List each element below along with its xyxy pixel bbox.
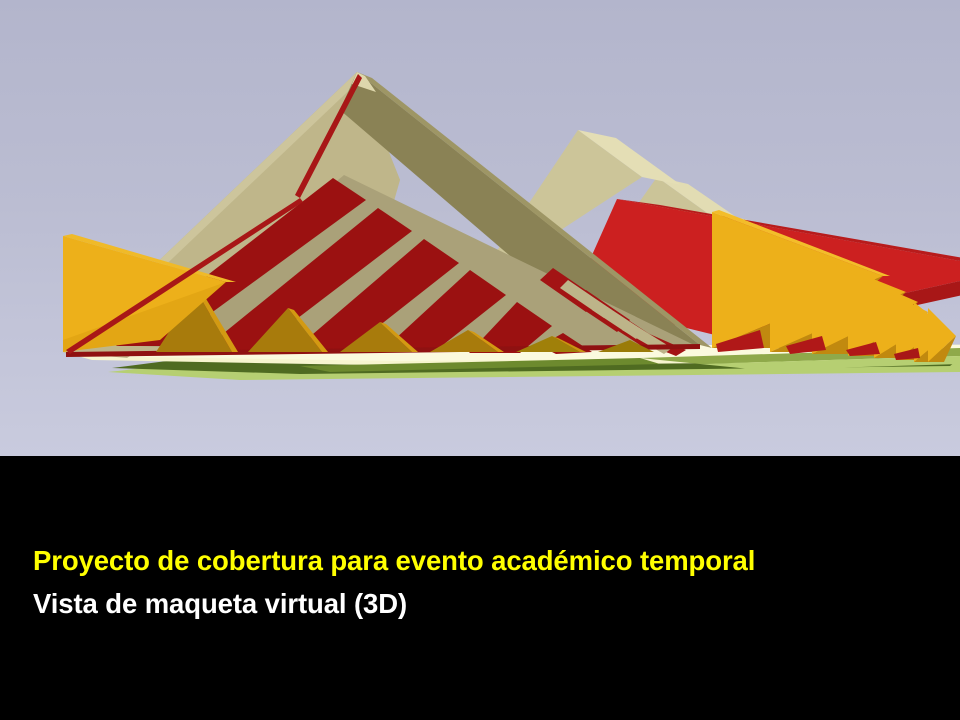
- caption-title: Proyecto de cobertura para evento académ…: [33, 544, 755, 578]
- 3d-model-geometry: [0, 0, 960, 456]
- presentation-slide: Proyecto de cobertura para evento académ…: [0, 0, 960, 720]
- caption-band: Proyecto de cobertura para evento académ…: [0, 456, 960, 720]
- 3d-model-render: [0, 0, 960, 456]
- caption-subtitle: Vista de maqueta virtual (3D): [33, 587, 407, 621]
